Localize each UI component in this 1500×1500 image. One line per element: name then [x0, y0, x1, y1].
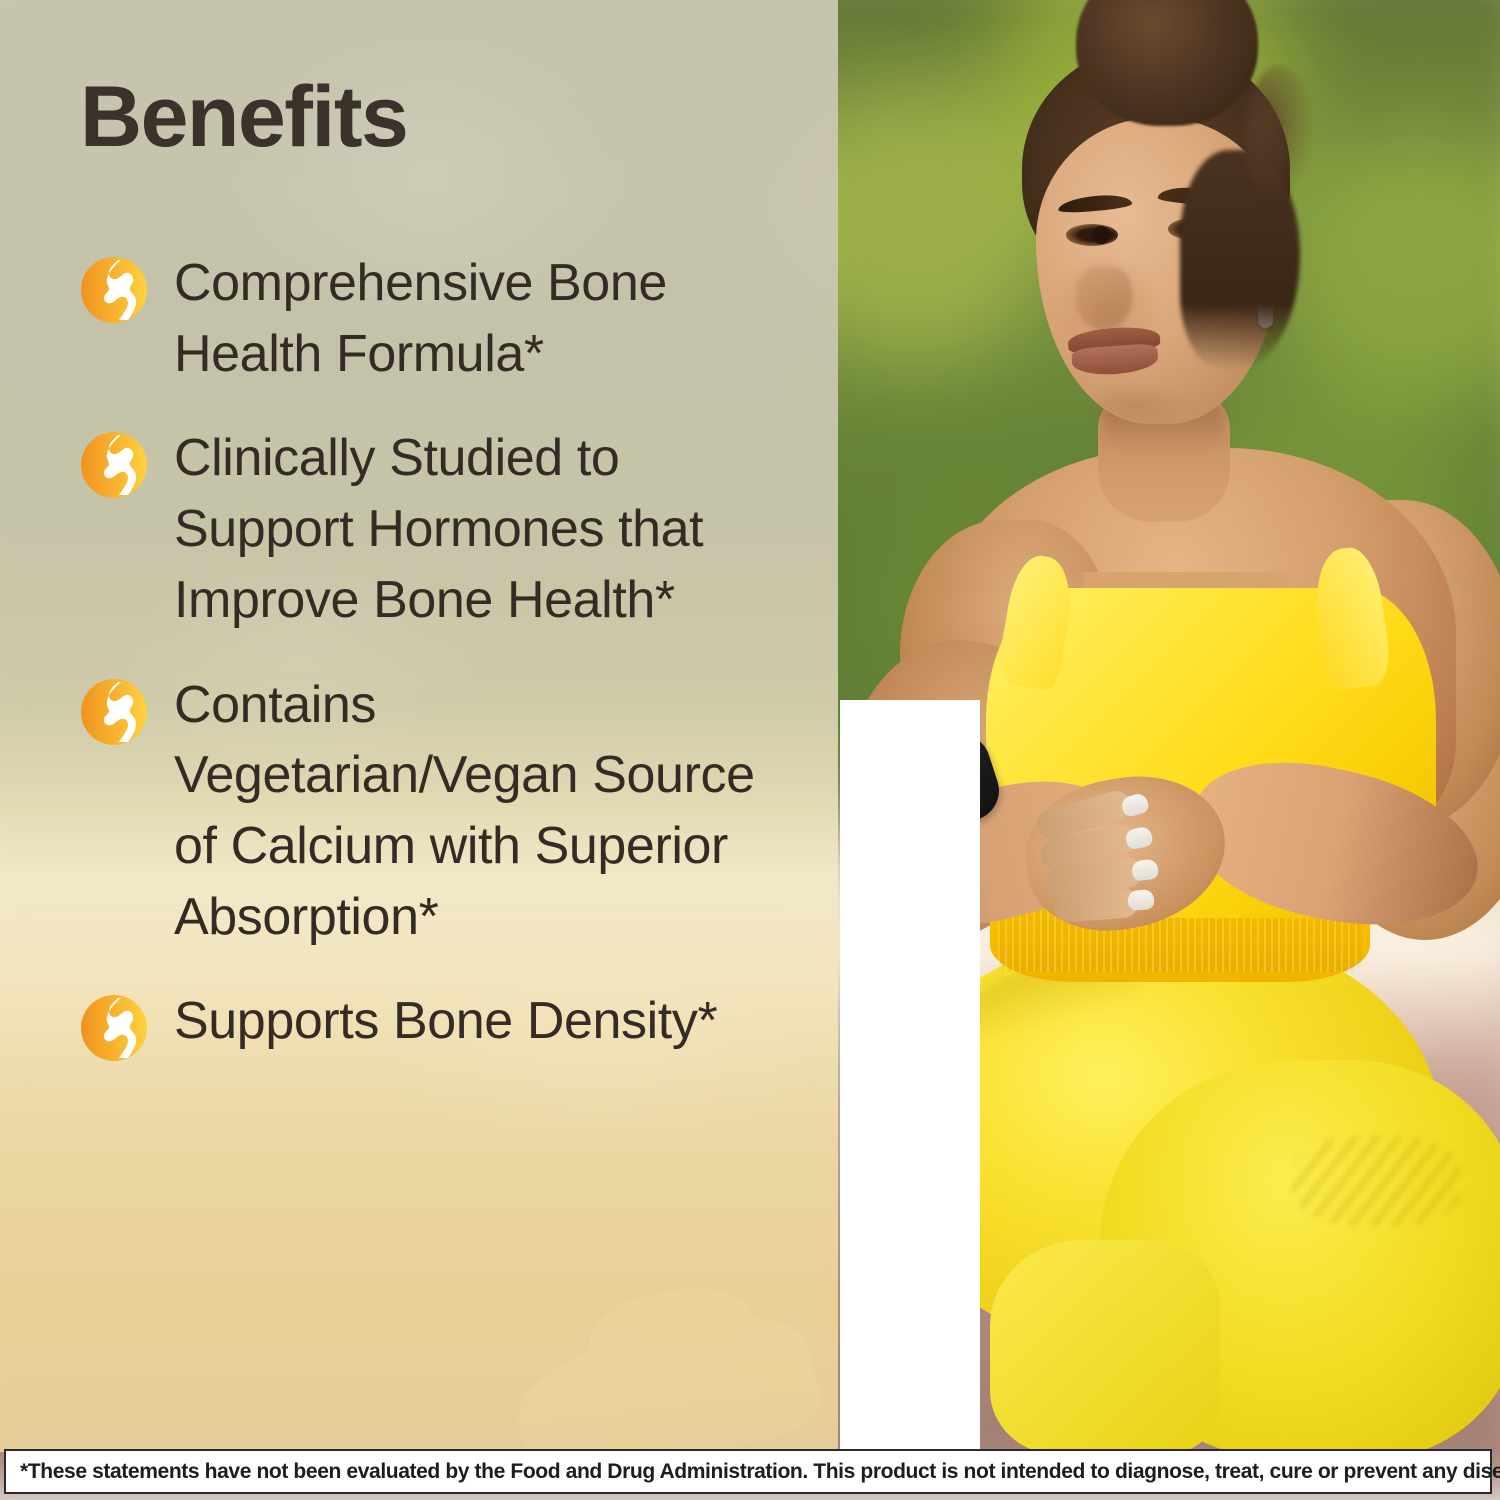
fabric-fold	[1292, 1136, 1462, 1226]
list-item-label: Supports Bone Density*	[174, 986, 794, 1057]
product-benefits-poster: Benefits Comprehensive	[0, 0, 1500, 1500]
benefits-list: Comprehensive Bone Health Formula*	[80, 248, 820, 1096]
fingernail	[1127, 889, 1154, 911]
bone-joint-icon	[80, 256, 148, 324]
benefits-content: Benefits Comprehensive	[0, 0, 838, 1452]
bone-joint-icon	[80, 431, 148, 499]
nose	[1076, 266, 1132, 330]
list-item-label: Clinically Studied to Support Hormones t…	[174, 423, 794, 635]
list-item: Supports Bone Density*	[80, 986, 820, 1062]
finger	[1053, 887, 1139, 923]
fda-disclaimer-bar: *These statements have not been evaluate…	[4, 1449, 1492, 1494]
list-item: Clinically Studied to Support Hormones t…	[80, 423, 820, 635]
list-item-label: Comprehensive Bone Health Formula*	[174, 248, 794, 389]
bone-joint-icon	[80, 678, 148, 746]
list-item: Contains Vegetarian/Vegan Source of Calc…	[80, 670, 820, 953]
list-item: Comprehensive Bone Health Formula*	[80, 248, 820, 389]
pupil	[1092, 226, 1110, 244]
list-item-label: Contains Vegetarian/Vegan Source of Calc…	[174, 670, 794, 953]
shin-leggings	[990, 1240, 1220, 1455]
fda-disclaimer-text: *These statements have not been evaluate…	[20, 1459, 1500, 1484]
hair-wisp	[1244, 66, 1314, 206]
woman-figure	[840, 0, 1500, 1452]
bone-joint-icon	[80, 994, 148, 1062]
white-cutout	[840, 700, 980, 1452]
chin-shading	[1080, 382, 1190, 428]
page-title: Benefits	[80, 74, 407, 160]
